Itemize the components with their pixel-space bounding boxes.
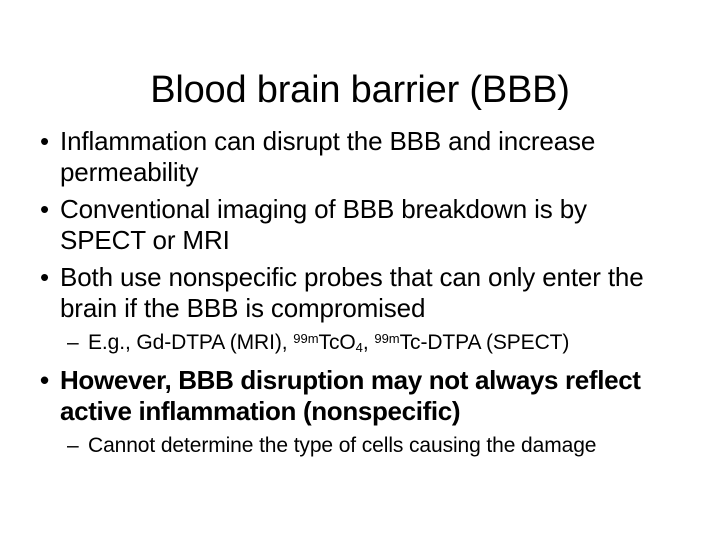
dash-marker-icon: –	[67, 330, 79, 356]
bullet-text-segment: 99m	[374, 331, 399, 346]
bullet-marker-icon: •	[40, 365, 49, 396]
bullet-list: •Inflammation can disrupt the BBB and in…	[36, 126, 676, 466]
bullet-item: •Both use nonspecific probes that can on…	[36, 262, 676, 324]
bullet-text-segment: 4	[356, 340, 363, 355]
bullet-marker-icon: •	[40, 262, 49, 293]
bullet-text: E.g., Gd-DTPA (MRI), 99mTcO4, 99mTc-DTPA…	[88, 331, 569, 354]
bullet-text: Cannot determine the type of cells causi…	[88, 434, 596, 457]
bullet-text: Conventional imaging of BBB breakdown is…	[60, 194, 587, 255]
slide: Blood brain barrier (BBB) •Inflammation …	[0, 0, 720, 540]
bullet-text: Inflammation can disrupt the BBB and inc…	[60, 126, 595, 187]
bullet-text: Both use nonspecific probes that can onl…	[60, 262, 644, 323]
bullet-marker-icon: •	[40, 126, 49, 157]
bullet-text-segment: TcO	[319, 331, 356, 354]
bullet-text: However, BBB disruption may not always r…	[60, 365, 641, 426]
sub-bullet-item: –E.g., Gd-DTPA (MRI), 99mTcO4, 99mTc-DTP…	[36, 330, 676, 358]
bullet-text-segment: ,	[363, 331, 374, 354]
sub-bullet-item: –Cannot determine the type of cells caus…	[36, 433, 676, 459]
bullet-marker-icon: •	[40, 194, 49, 225]
dash-marker-icon: –	[67, 433, 79, 459]
bullet-text-segment: Tc-DTPA (SPECT)	[400, 331, 570, 354]
page-title: Blood brain barrier (BBB)	[40, 67, 680, 113]
bullet-item: •Conventional imaging of BBB breakdown i…	[36, 194, 676, 256]
bullet-item: •Inflammation can disrupt the BBB and in…	[36, 126, 676, 188]
bullet-text-segment: E.g., Gd-DTPA (MRI),	[88, 331, 293, 354]
bullet-item: •However, BBB disruption may not always …	[36, 365, 676, 427]
bullet-text-segment: 99m	[293, 331, 318, 346]
